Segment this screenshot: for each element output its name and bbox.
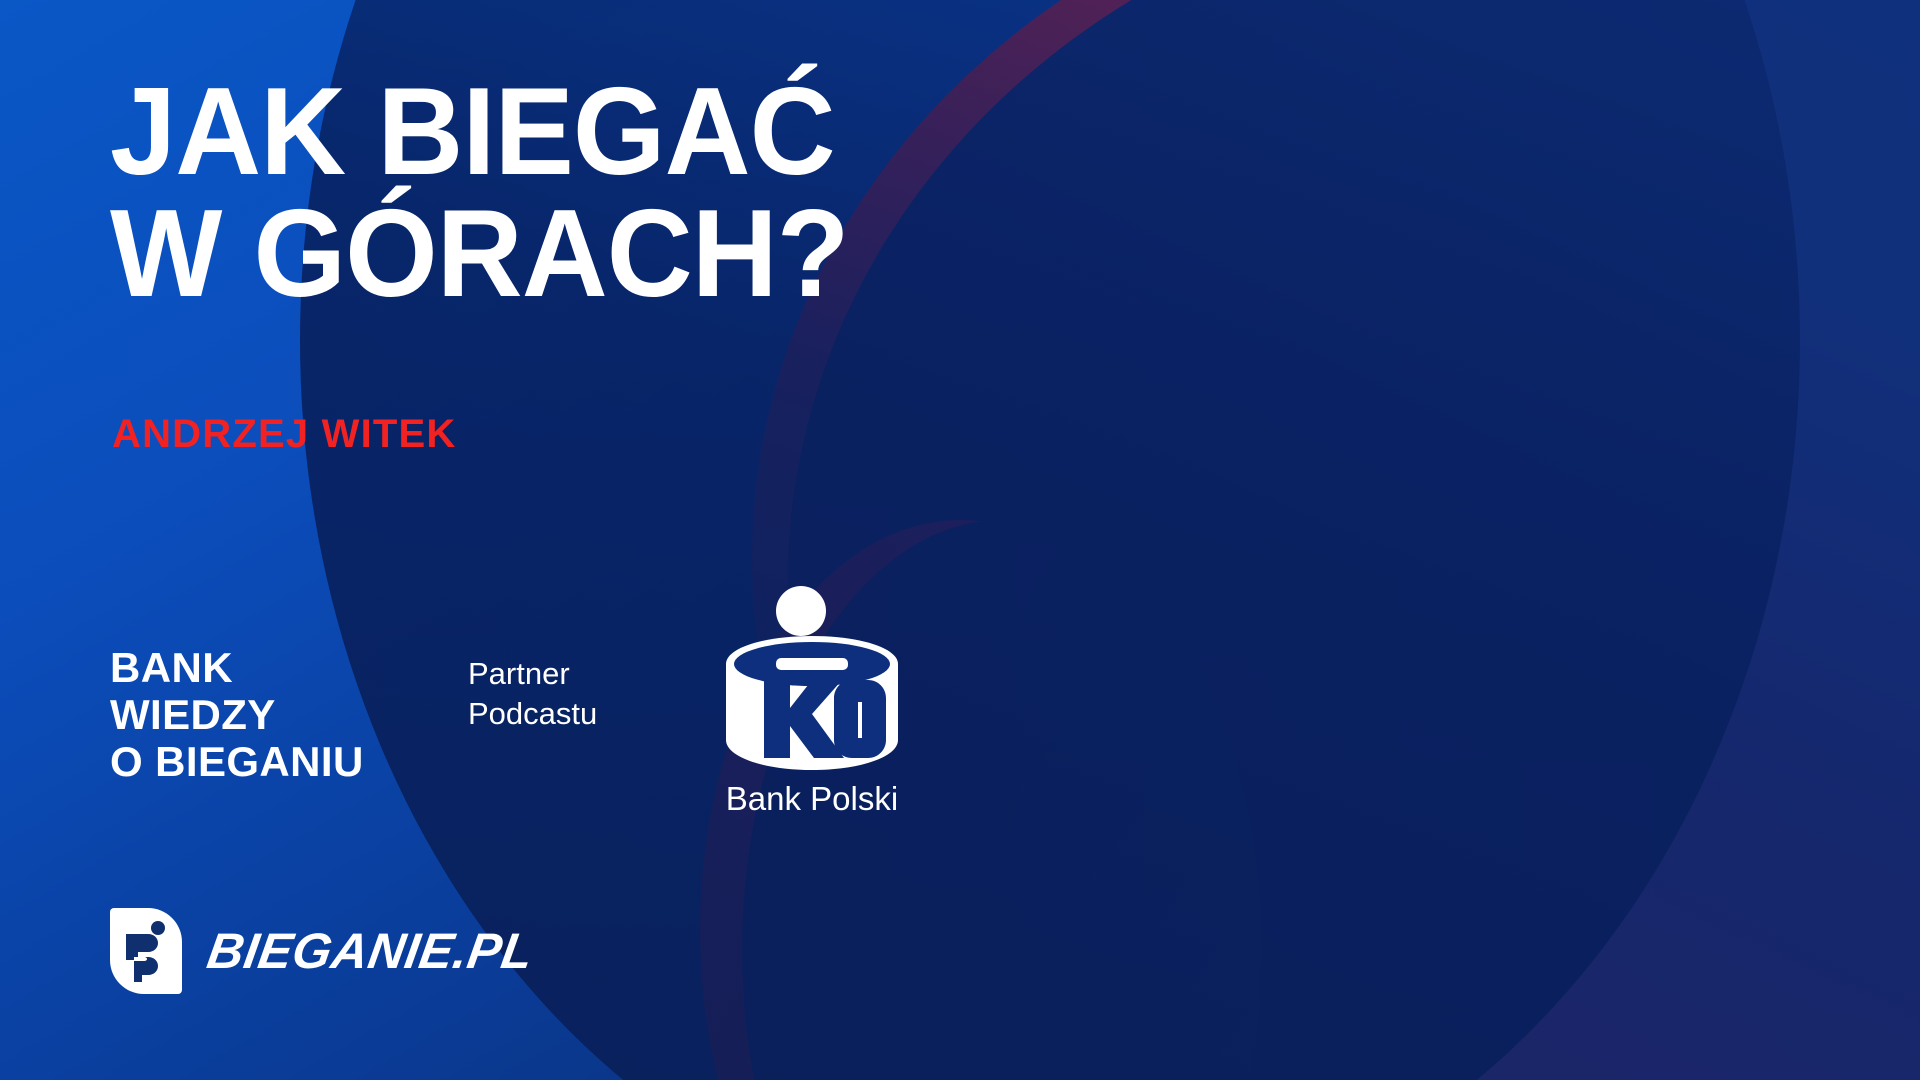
bieganie-pl-logo[interactable]: BIEGANIE.PL [110, 908, 533, 994]
pko-bank-polski-logo-icon [716, 586, 906, 766]
partner-label-line-2: Podcastu [468, 694, 597, 734]
bieganie-pl-wordmark: BIEGANIE.PL [203, 922, 537, 980]
brand-line-1: BANK [110, 644, 364, 691]
partner-label: Partner Podcastu [468, 654, 597, 735]
brand-line-2: WIEDZY [110, 691, 364, 738]
episode-title-line-2: W GÓRACH? [110, 194, 1070, 316]
bieganie-runner-badge-icon [110, 908, 182, 994]
bank-wiedzy-o-bieganiu-wordmark: BANK WIEDZY O BIEGANIU [110, 644, 364, 785]
episode-cover-canvas: JAK BIEGAĆ W GÓRACH? ANDRZEJ WITEK BANK … [0, 0, 1920, 1080]
pko-cylinder-icon [724, 634, 900, 788]
episode-title: JAK BIEGAĆ W GÓRACH? [110, 72, 1070, 315]
pko-head-dot-icon [776, 586, 826, 636]
partner-label-line-1: Partner [468, 654, 597, 694]
speaker-name: ANDRZEJ WITEK [112, 412, 457, 457]
episode-title-line-1: JAK BIEGAĆ [110, 63, 835, 201]
brand-line-3: O BIEGANIU [110, 738, 364, 785]
pko-logo-caption: Bank Polski [722, 780, 902, 818]
